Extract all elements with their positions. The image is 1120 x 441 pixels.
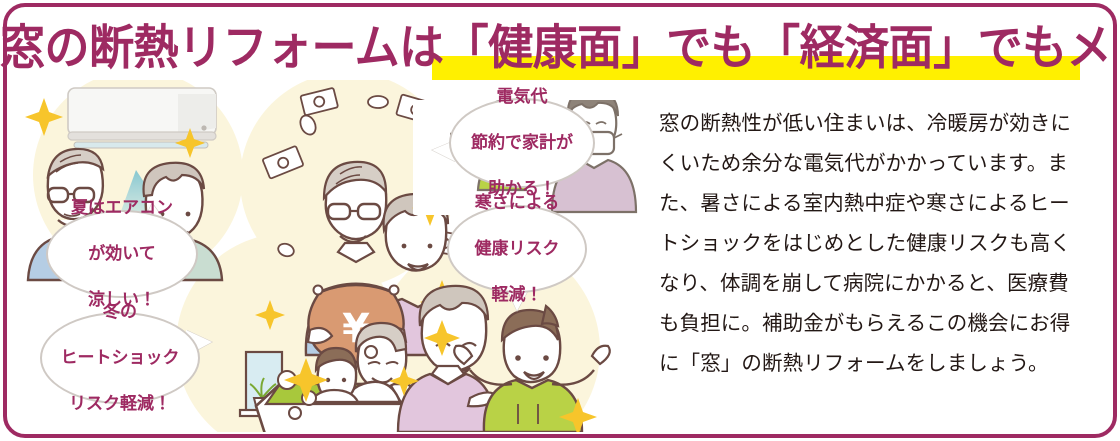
bubble-line: 軽減！ — [449, 284, 585, 307]
bubble-line: 健康リスク — [449, 238, 585, 261]
bubble-line: が効いて — [48, 243, 196, 266]
speech-bubble-cold-health-risk: 寒さによる 健康リスク 軽減！ — [447, 205, 587, 293]
bubble-line: 夏はエアコン — [48, 197, 196, 220]
bubble-line: 寒さによる — [449, 192, 585, 215]
speech-bubble-electricity-saving: 電気代 節約で家計が 助かる！ — [449, 98, 595, 188]
speech-bubble-winter-heatshock: 冬の ヒートショック リスク軽減！ — [40, 312, 200, 404]
bubble-line: ヒートショック — [42, 347, 198, 370]
speech-bubble-summer-aircon: 夏はエアコン が効いて 涼しい！ — [46, 210, 198, 298]
promo-banner: 窓の断熱リフォームは「健康面」でも「経済面」でもメリット大 窓の断熱性が低い住ま… — [0, 0, 1120, 441]
bubble-line: 節約で家計が — [451, 132, 593, 155]
body-paragraph: 窓の断熱性が低い住まいは、冷暖房が効きにくいため余分な電気代がかかっています。ま… — [659, 103, 1079, 383]
page-title: 窓の断熱リフォームは「健康面」でも「経済面」でもメリット大 — [0, 14, 1120, 82]
headline-area: 窓の断熱リフォームは「健康面」でも「経済面」でもメリット大 — [0, 14, 1120, 82]
bubble-line: リスク軽減！ — [42, 393, 198, 416]
bubble-line: 冬の — [42, 301, 198, 324]
bubble-line: 電気代 — [451, 86, 593, 109]
